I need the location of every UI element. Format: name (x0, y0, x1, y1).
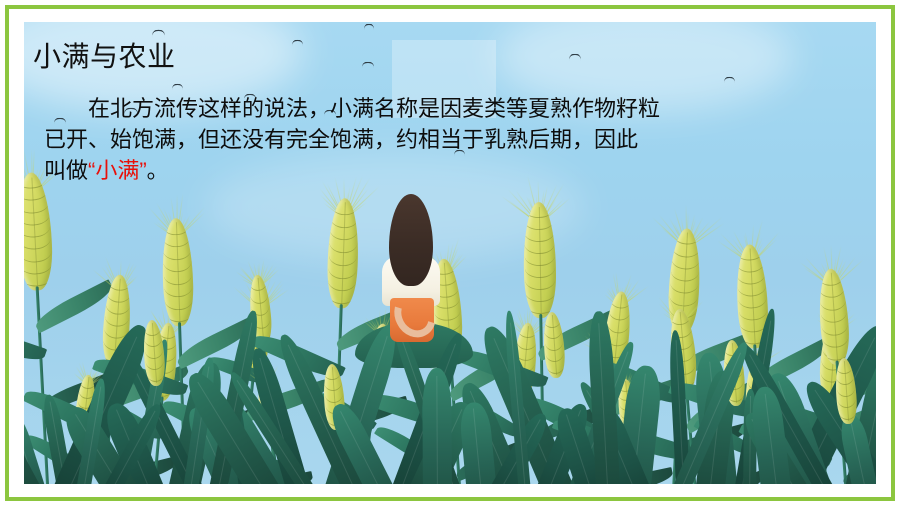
wheat-grain (24, 273, 53, 287)
understory-foliage (24, 294, 876, 484)
paragraph-line-3: 叫做“小满”。 (44, 155, 856, 186)
leaf-vein (566, 415, 594, 484)
wheat-ear (24, 172, 54, 292)
leaf-vein (436, 376, 438, 484)
paragraph-end-punctuation: 。 (147, 158, 169, 183)
wheat-grain (24, 249, 52, 263)
paragraph-line-2: 已开、始饱满，但还没有完全饱满，约相当于乳熟后期，因此 (44, 124, 856, 155)
bird-icon (724, 77, 735, 82)
paragraph-line-1: 在北方流传这样的说法，小满名称是因麦类等夏熟作物籽粒 (44, 93, 856, 124)
bird-icon (362, 62, 374, 67)
leaf-vein (474, 408, 484, 484)
understory-blade (422, 368, 452, 484)
leaf-vein (599, 322, 609, 484)
paragraph-line-3-lead: 叫做 (44, 158, 88, 183)
bird-icon (569, 54, 581, 60)
body-paragraph: 在北方流传这样的说法，小满名称是因麦类等夏熟作物籽粒 已开、始饱满，但还没有完全… (44, 93, 856, 186)
slide-canvas: 小满与农业 在北方流传这样的说法，小满名称是因麦类等夏熟作物籽粒 已开、始饱满，… (0, 0, 900, 506)
bird-icon (152, 30, 165, 36)
highlight-term: “小满” (88, 158, 147, 183)
page-title: 小满与农业 (33, 40, 176, 74)
bird-icon (364, 24, 374, 29)
leaf-vein (764, 394, 777, 484)
wheat-ear (326, 198, 360, 309)
girl-hair (389, 194, 433, 286)
bird-icon (292, 40, 303, 45)
wheat-field-illustration (24, 22, 876, 484)
bird-icon (172, 84, 183, 89)
wheat-ear (542, 311, 567, 378)
